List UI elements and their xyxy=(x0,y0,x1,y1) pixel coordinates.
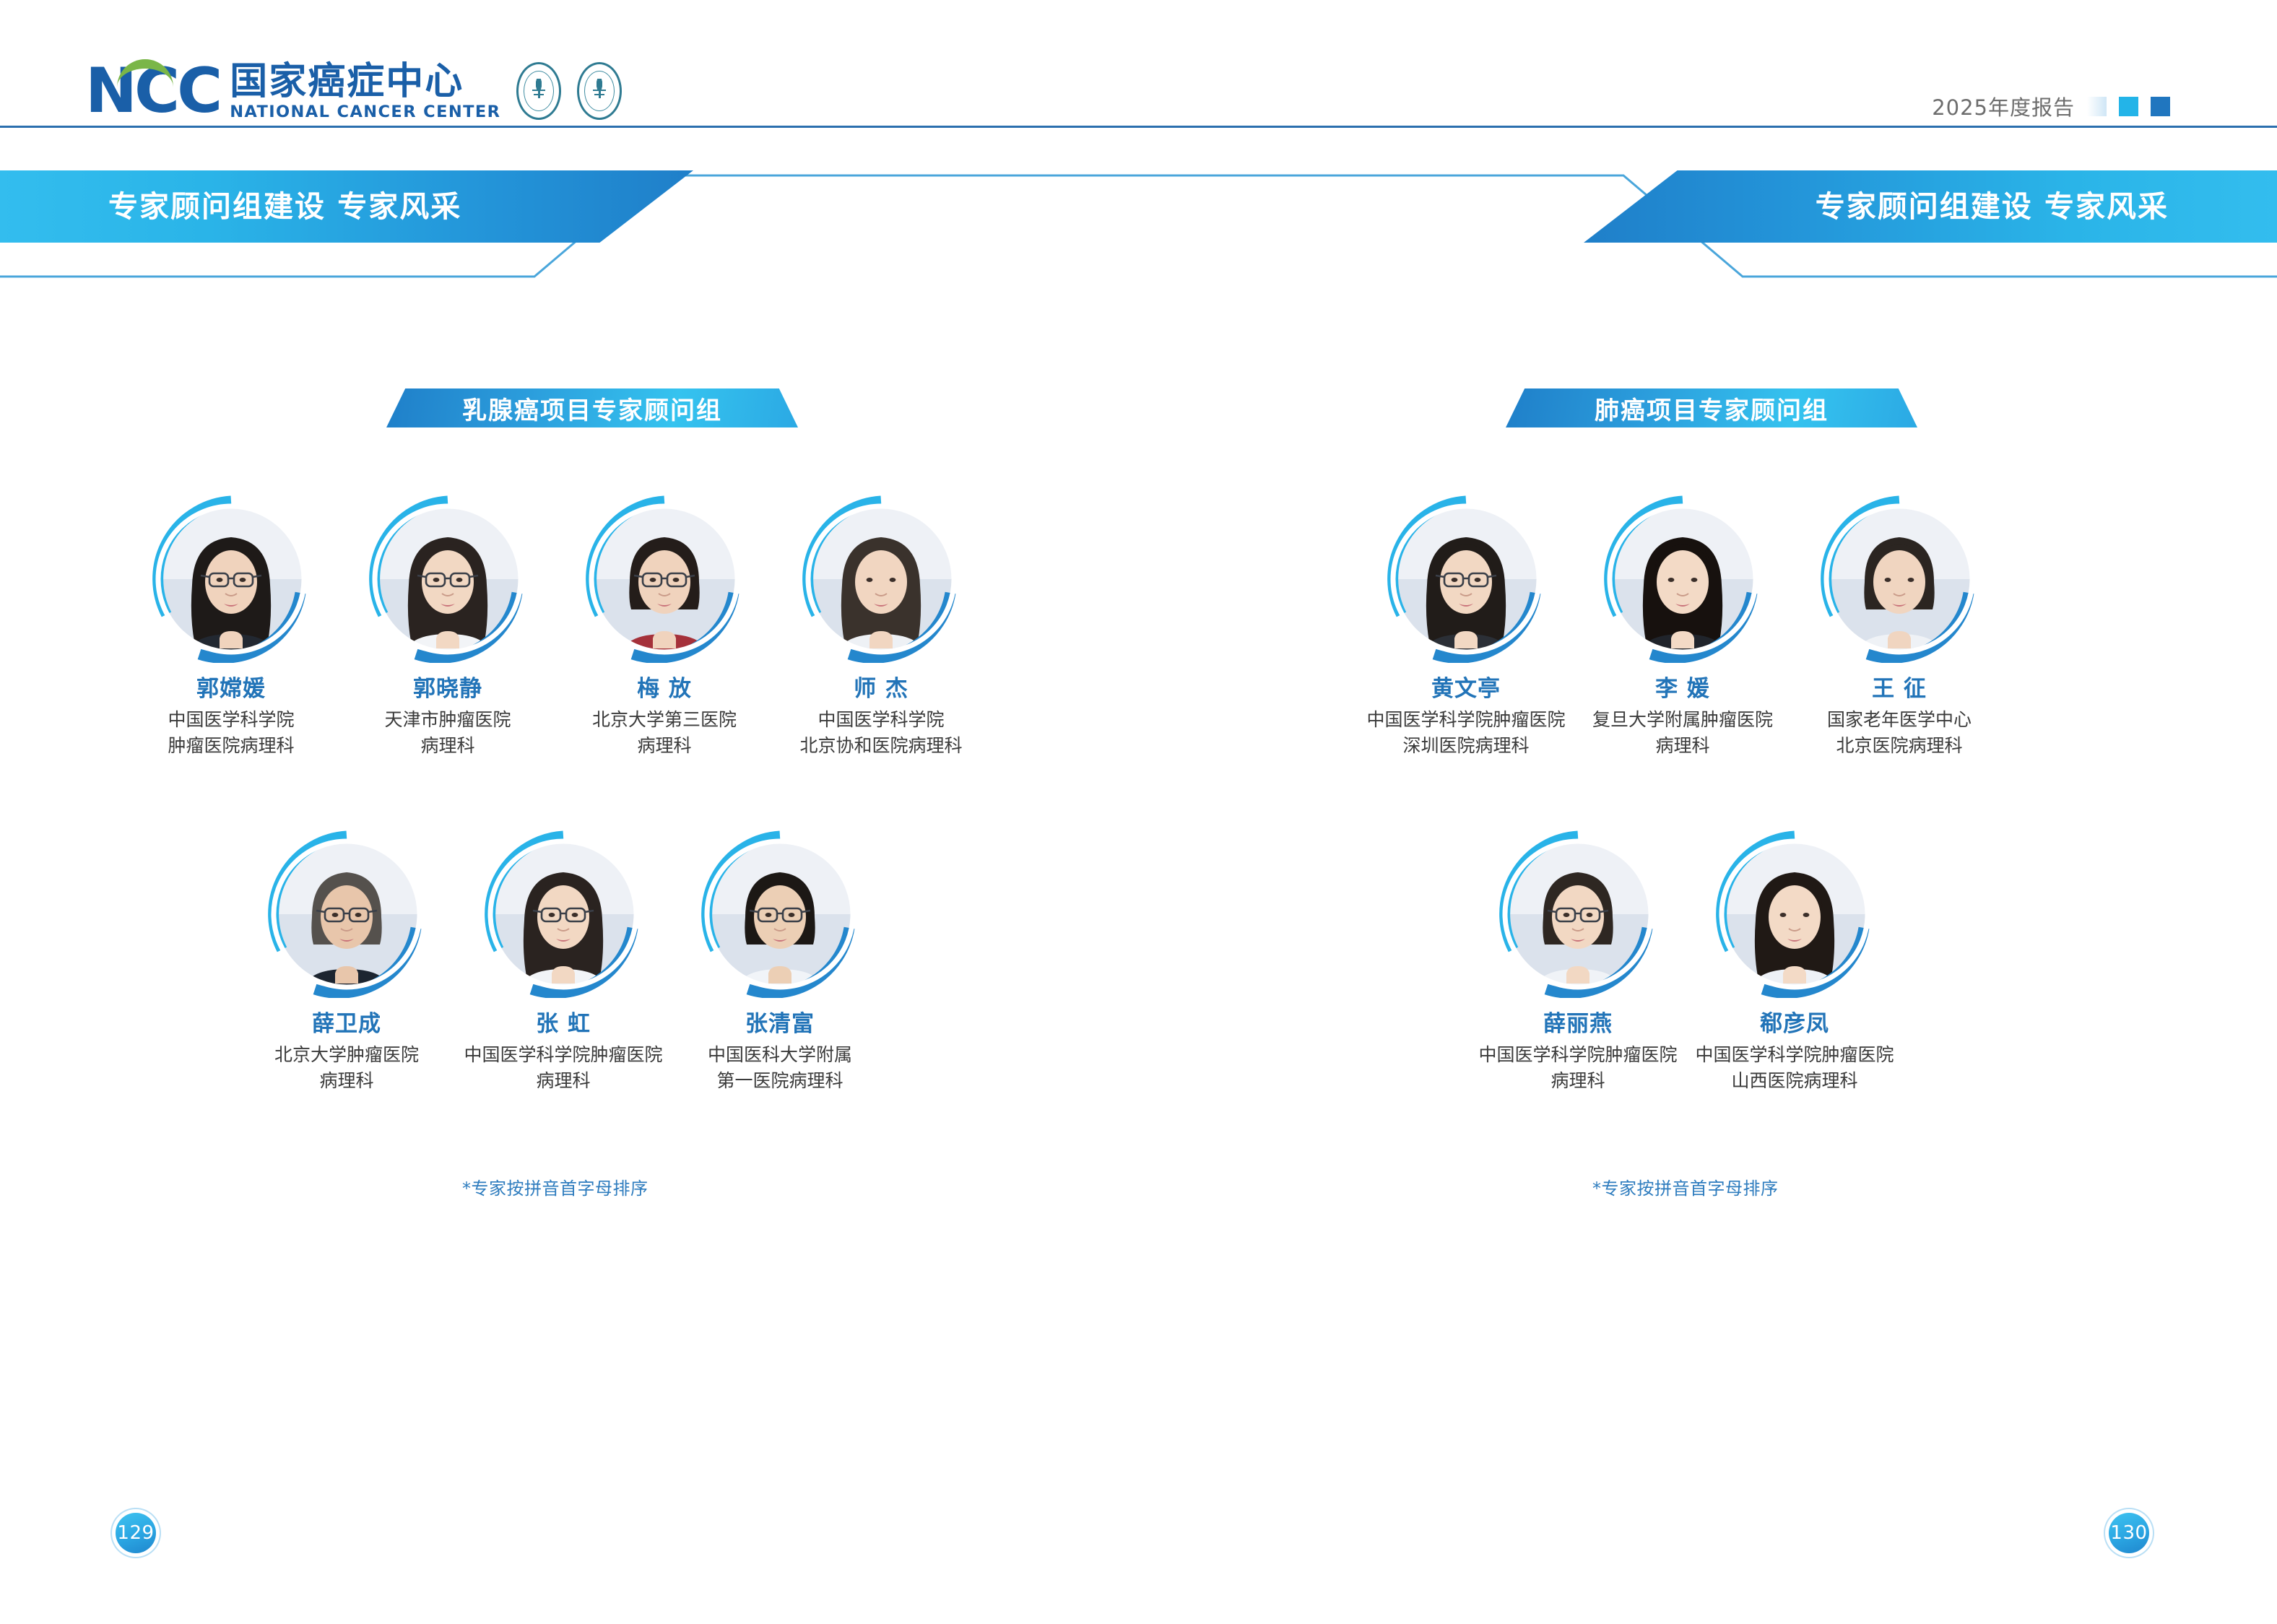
sort-note-breast: *专家按拼音首字母排序 xyxy=(462,1174,649,1199)
expert-name: 张 虹 xyxy=(536,1009,591,1038)
expert-name: 郗彦凤 xyxy=(1760,1009,1829,1038)
expert-name: 薛卫成 xyxy=(312,1009,381,1038)
page-number-left: 129 xyxy=(116,1513,156,1553)
ncc-name-block: 国家癌症中心 NATIONAL CANCER CENTER xyxy=(230,61,500,121)
expert-name: 李 媛 xyxy=(1655,674,1710,703)
expert-avatar xyxy=(1494,830,1662,998)
expert-affiliation-line1: 中国医学科学院肿瘤医院 xyxy=(1366,707,1565,733)
expert-grid-breast-row2: 薛卫成北京大学肿瘤医院病理科张 虹中国医学科学院肿瘤医院病理科张清富中国医科大学… xyxy=(238,830,888,1094)
expert-avatar xyxy=(364,495,532,663)
expert-affiliation-line2: 病理科 xyxy=(384,733,511,759)
expert-affiliation-line1: 北京大学第三医院 xyxy=(592,707,737,733)
expert-card: 薛丽燕中国医学科学院肿瘤医院病理科 xyxy=(1470,830,1686,1094)
ncc-chinese-name: 国家癌症中心 xyxy=(230,61,500,103)
expert-affiliation: 中国医科大学附属第一医院病理科 xyxy=(708,1042,852,1094)
expert-name: 黄文亭 xyxy=(1431,674,1501,703)
avatar-ring-decoration xyxy=(263,830,430,998)
institution-seal-icon-2 xyxy=(577,62,622,120)
expert-name: 梅 放 xyxy=(637,674,692,703)
avatar-ring-decoration xyxy=(1711,830,1878,998)
section-title-breast: 乳腺癌项目专家顾问组 xyxy=(386,388,798,427)
expert-name: 王 征 xyxy=(1872,674,1927,703)
ribbon-right: 专家顾问组建设 专家风采 xyxy=(1584,170,2277,243)
expert-affiliation-line1: 北京大学肿瘤医院 xyxy=(274,1042,419,1068)
expert-avatar xyxy=(1711,830,1878,998)
expert-affiliation-line1: 天津市肿瘤医院 xyxy=(384,707,511,733)
page-number-left-value: 129 xyxy=(117,1522,154,1544)
expert-avatar xyxy=(480,830,647,998)
expert-card: 师 杰中国医学科学院北京协和医院病理科 xyxy=(773,495,989,759)
expert-affiliation-line2: 深圳医院病理科 xyxy=(1366,733,1565,759)
expert-name: 郭晓静 xyxy=(413,674,482,703)
page-header: NCC 国家癌症中心 NATIONAL CANCER CENTER 2025年度… xyxy=(0,0,2277,130)
ribbon-right-title: 专家顾问组建设 专家风采 xyxy=(1816,186,2169,227)
report-tag: 2025年度报告 xyxy=(1932,91,2170,121)
expert-avatar xyxy=(581,495,748,663)
avatar-ring-decoration xyxy=(1816,495,1983,663)
expert-affiliation-line2: 病理科 xyxy=(1592,733,1773,759)
tag-square-2 xyxy=(2119,97,2138,116)
avatar-ring-decoration xyxy=(147,495,315,663)
page-number-right-value: 130 xyxy=(2110,1522,2147,1544)
ncc-wordmark: NCC xyxy=(85,62,220,120)
expert-affiliation: 中国医学科学院肿瘤医院病理科 xyxy=(1478,1042,1677,1094)
expert-affiliation: 复旦大学附属肿瘤医院病理科 xyxy=(1592,707,1773,759)
expert-grid-lung-row2: 薛丽燕中国医学科学院肿瘤医院病理科郗彦凤中国医学科学院肿瘤医院山西医院病理科 xyxy=(1470,830,1903,1094)
avatar-ring-decoration xyxy=(1382,495,1550,663)
sort-note-lung: *专家按拼音首字母排序 xyxy=(1592,1174,1779,1199)
expert-grid-breast-row1: 郭嫦媛中国医学科学院肿瘤医院病理科郭晓静天津市肿瘤医院病理科梅 放北京大学第三医… xyxy=(123,495,989,759)
expert-card: 张清富中国医科大学附属第一医院病理科 xyxy=(672,830,888,1094)
tag-square-1 xyxy=(2087,97,2107,116)
expert-affiliation: 中国医学科学院肿瘤医院山西医院病理科 xyxy=(1695,1042,1894,1094)
expert-affiliation-line1: 复旦大学附属肿瘤医院 xyxy=(1592,707,1773,733)
expert-affiliation-line2: 北京医院病理科 xyxy=(1827,733,1972,759)
expert-affiliation-line2: 病理科 xyxy=(274,1068,419,1094)
institution-seal-icon-1 xyxy=(516,62,561,120)
expert-avatar xyxy=(263,830,430,998)
ncc-english-name: NATIONAL CANCER CENTER xyxy=(230,103,500,121)
expert-affiliation-line2: 病理科 xyxy=(464,1068,662,1094)
ribbon-left: 专家顾问组建设 专家风采 xyxy=(0,170,693,243)
expert-affiliation-line2: 病理科 xyxy=(592,733,737,759)
avatar-ring-decoration xyxy=(1494,830,1662,998)
expert-avatar xyxy=(1816,495,1983,663)
expert-card: 梅 放北京大学第三医院病理科 xyxy=(556,495,773,759)
expert-card: 黄文亭中国医学科学院肿瘤医院深圳医院病理科 xyxy=(1358,495,1574,759)
section-title-lung: 肺癌项目专家顾问组 xyxy=(1506,388,1917,427)
expert-affiliation: 北京大学肿瘤医院病理科 xyxy=(274,1042,419,1094)
expert-avatar xyxy=(1599,495,1766,663)
expert-affiliation-line1: 中国医学科学院肿瘤医院 xyxy=(464,1042,662,1068)
expert-affiliation: 天津市肿瘤医院病理科 xyxy=(384,707,511,759)
expert-affiliation-line1: 国家老年医学中心 xyxy=(1827,707,1972,733)
expert-affiliation-line2: 病理科 xyxy=(1478,1068,1677,1094)
expert-affiliation-line2: 北京协和医院病理科 xyxy=(799,733,962,759)
expert-avatar xyxy=(696,830,864,998)
ribbon-left-title: 专家顾问组建设 专家风采 xyxy=(108,186,461,227)
avatar-ring-decoration xyxy=(480,830,647,998)
expert-card: 王 征国家老年医学中心北京医院病理科 xyxy=(1791,495,2008,759)
avatar-ring-decoration xyxy=(581,495,748,663)
expert-card: 郭嫦媛中国医学科学院肿瘤医院病理科 xyxy=(123,495,339,759)
expert-affiliation-line2: 山西医院病理科 xyxy=(1695,1068,1894,1094)
expert-name: 张清富 xyxy=(745,1009,815,1038)
section-ribbon: 专家顾问组建设 专家风采 专家顾问组建设 专家风采 xyxy=(0,170,2277,279)
page-number-right: 130 xyxy=(2109,1513,2149,1553)
expert-affiliation: 中国医学科学院肿瘤医院病理科 xyxy=(168,707,294,759)
header-divider xyxy=(0,126,2277,128)
expert-affiliation-line1: 中国医学科学院肿瘤医院 xyxy=(1695,1042,1894,1068)
ncc-logo: NCC 国家癌症中心 NATIONAL CANCER CENTER xyxy=(85,61,622,121)
avatar-ring-decoration xyxy=(696,830,864,998)
expert-affiliation-line1: 中国医学科学院 xyxy=(799,707,962,733)
expert-affiliation: 中国医学科学院北京协和医院病理科 xyxy=(799,707,962,759)
report-year-label: 2025年度报告 xyxy=(1932,91,2075,121)
section-title-lung-label: 肺癌项目专家顾问组 xyxy=(1595,391,1829,426)
expert-affiliation-line2: 肿瘤医院病理科 xyxy=(168,733,294,759)
avatar-ring-decoration xyxy=(1599,495,1766,663)
expert-grid-lung-row1: 黄文亭中国医学科学院肿瘤医院深圳医院病理科李 媛复旦大学附属肿瘤医院病理科王 征… xyxy=(1358,495,2008,759)
expert-affiliation: 中国医学科学院肿瘤医院病理科 xyxy=(464,1042,662,1094)
section-title-breast-label: 乳腺癌项目专家顾问组 xyxy=(462,391,722,426)
expert-affiliation: 中国医学科学院肿瘤医院深圳医院病理科 xyxy=(1366,707,1565,759)
expert-card: 郗彦凤中国医学科学院肿瘤医院山西医院病理科 xyxy=(1686,830,1903,1094)
expert-affiliation: 国家老年医学中心北京医院病理科 xyxy=(1827,707,1972,759)
expert-affiliation-line1: 中国医学科学院肿瘤医院 xyxy=(1478,1042,1677,1068)
expert-affiliation-line1: 中国医科大学附属 xyxy=(708,1042,852,1068)
expert-card: 张 虹中国医学科学院肿瘤医院病理科 xyxy=(455,830,672,1094)
expert-avatar xyxy=(147,495,315,663)
expert-name: 师 杰 xyxy=(854,674,908,703)
expert-affiliation: 北京大学第三医院病理科 xyxy=(592,707,737,759)
expert-avatar xyxy=(797,495,965,663)
expert-card: 李 媛复旦大学附属肿瘤医院病理科 xyxy=(1574,495,1791,759)
avatar-ring-decoration xyxy=(364,495,532,663)
expert-name: 郭嫦媛 xyxy=(196,674,266,703)
expert-affiliation-line1: 中国医学科学院 xyxy=(168,707,294,733)
expert-card: 郭晓静天津市肿瘤医院病理科 xyxy=(339,495,556,759)
expert-avatar xyxy=(1382,495,1550,663)
expert-affiliation-line2: 第一医院病理科 xyxy=(708,1068,852,1094)
expert-card: 薛卫成北京大学肿瘤医院病理科 xyxy=(238,830,455,1094)
tag-square-3 xyxy=(2151,97,2170,116)
expert-name: 薛丽燕 xyxy=(1543,1009,1613,1038)
avatar-ring-decoration xyxy=(797,495,965,663)
